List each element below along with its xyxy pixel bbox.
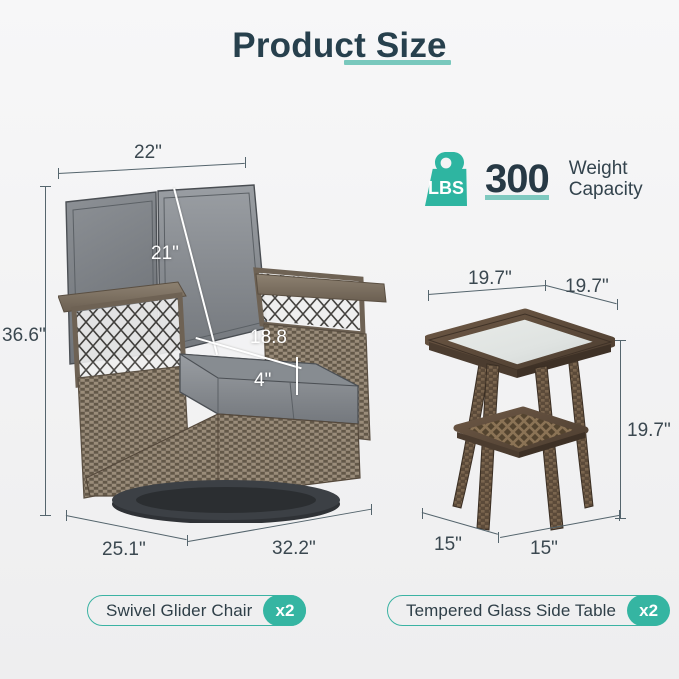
chair-caption-pill[interactable]: Swivel Glider Chair x2 bbox=[87, 595, 306, 626]
chair-cushion-thickness-line bbox=[296, 357, 298, 395]
lbs-weight-icon: LBS bbox=[418, 150, 474, 208]
page-title-text-wrap: Product Size bbox=[232, 26, 446, 66]
chair-quantity-badge: x2 bbox=[263, 595, 306, 626]
table-height-tick-bottom bbox=[615, 518, 626, 519]
chair-width-tick-left bbox=[58, 168, 59, 179]
chair-height-tick-top bbox=[40, 186, 51, 187]
chair-base-width-tick-right bbox=[371, 504, 372, 515]
table-top-depth-label: 19.7" bbox=[468, 268, 512, 290]
weight-label-line1: Weight bbox=[569, 158, 643, 179]
chair-base-depth-label: 25.1" bbox=[102, 539, 146, 561]
weight-value: 300 bbox=[485, 159, 549, 199]
chair-cushion-thickness-label: 4" bbox=[254, 370, 271, 392]
weight-value-underline bbox=[485, 195, 549, 200]
weight-capacity-block: LBS 300 Weight Capacity bbox=[418, 150, 643, 208]
page-title: Product Size bbox=[0, 26, 679, 66]
chair-base-depth-tick-left bbox=[66, 510, 67, 521]
chair-seat-depth-label: 18.8 bbox=[250, 327, 287, 349]
chair-width-dimline bbox=[58, 163, 245, 174]
lbs-icon-text: LBS bbox=[428, 178, 464, 198]
chair-width-label: 22" bbox=[134, 142, 162, 164]
table-top-depth-tick-left bbox=[428, 290, 429, 301]
table-base-depth-tick-mid bbox=[498, 532, 499, 543]
weight-label-line2: Capacity bbox=[569, 179, 643, 200]
chair-width-tick-right bbox=[245, 157, 246, 168]
page-title-label: Product Size bbox=[232, 26, 446, 65]
chair-height-label: 36.6" bbox=[2, 325, 46, 347]
table-height-label: 19.7" bbox=[627, 420, 671, 442]
chair-height-tick-bottom bbox=[40, 515, 51, 516]
table-height-dimline bbox=[620, 340, 621, 518]
product-size-infographic: Product Size LBS 300 Weight Capacity bbox=[0, 0, 679, 679]
chair-caption-label: Swivel Glider Chair bbox=[106, 601, 263, 621]
table-height-tick-top bbox=[615, 340, 626, 341]
table-base-width-tick-right bbox=[619, 510, 620, 521]
weight-capacity-label: Weight Capacity bbox=[569, 158, 643, 200]
table-caption-pill[interactable]: Tempered Glass Side Table x2 bbox=[387, 595, 669, 626]
table-caption-label: Tempered Glass Side Table bbox=[406, 601, 627, 621]
chair-back-height-label: 21" bbox=[151, 243, 179, 265]
table-top-width-label: 19.7" bbox=[565, 276, 609, 298]
table-base-width-label: 15" bbox=[530, 538, 558, 560]
swivel-glider-chair-image bbox=[58, 178, 388, 523]
weight-value-wrap: 300 bbox=[485, 159, 549, 199]
chair-height-dimline bbox=[45, 186, 46, 515]
table-base-depth-tick-left bbox=[422, 508, 423, 519]
table-top-width-tick-right bbox=[617, 299, 618, 310]
table-base-depth-label: 15" bbox=[434, 534, 462, 556]
tempered-glass-side-table-image bbox=[425, 300, 615, 535]
table-quantity-badge: x2 bbox=[627, 595, 670, 626]
chair-base-width-label: 32.2" bbox=[272, 538, 316, 560]
